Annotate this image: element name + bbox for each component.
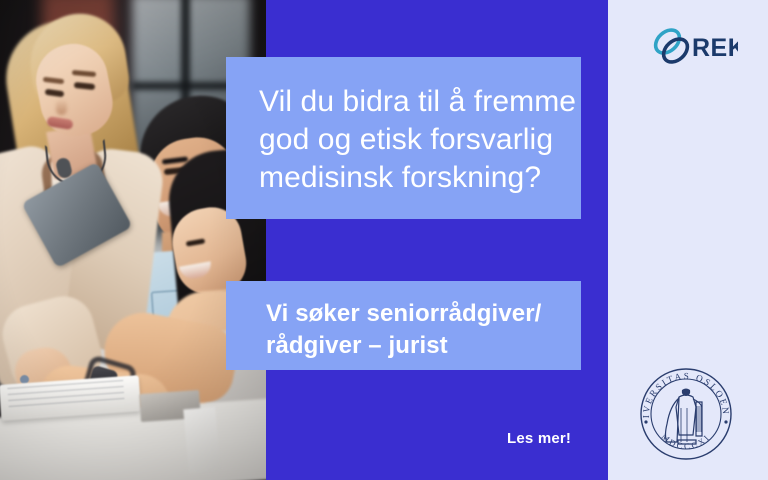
headline-line-2: god og etisk forsvarlig: [259, 121, 551, 159]
headline-line-3: medisinsk forskning?: [259, 159, 551, 197]
rek-logo: REK: [650, 26, 738, 68]
job-line-2: rådgiver – jurist: [266, 330, 561, 362]
job-title-box: Vi søker seniorrådgiver/ rådgiver – juri…: [226, 281, 581, 370]
rek-wordmark: REK: [692, 34, 738, 62]
read-more-link[interactable]: Les mer!: [507, 430, 571, 447]
job-line-1: Vi søker seniorrådgiver/: [266, 298, 561, 330]
uio-seal: UNIVERSITAS OSLOENSIS MDCCCXI: [634, 362, 738, 466]
rek-logo-svg: REK: [650, 26, 738, 68]
uio-seal-svg: UNIVERSITAS OSLOENSIS MDCCCXI: [634, 362, 738, 466]
recruitment-banner: Vil du bidra til å fremme god og etisk f…: [0, 0, 768, 480]
headline-box: Vil du bidra til å fremme god og etisk f…: [226, 57, 581, 219]
rek-interlocking-rings-icon: [651, 26, 692, 67]
headline-line-1: Vil du bidra til å fremme: [259, 83, 551, 121]
